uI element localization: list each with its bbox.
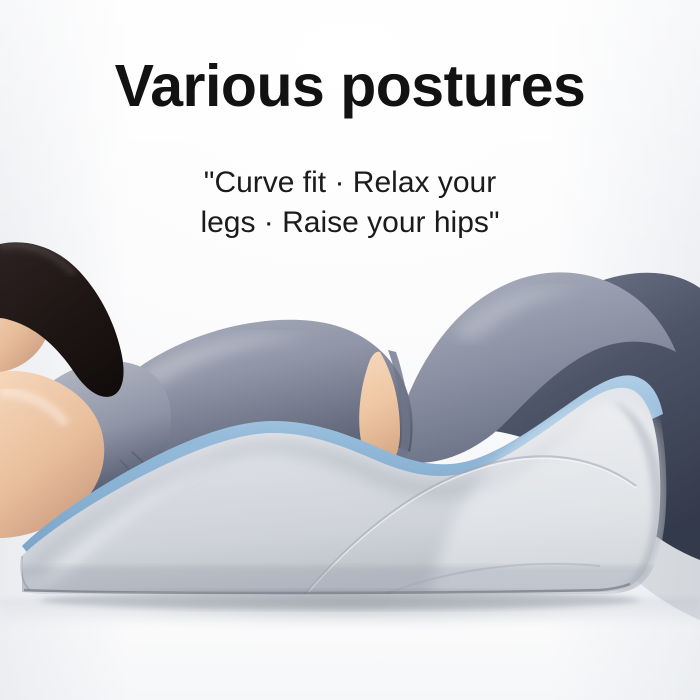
cushion-contact-shadow [40, 590, 640, 610]
page-title: Various postures [0, 56, 700, 116]
subtitle-line-2: legs · Raise your hips" [0, 203, 700, 243]
product-marketing-image: Various postures "Curve fit · Relax your… [0, 0, 700, 700]
subtitle-line-1: "Curve fit · Relax your [204, 166, 496, 199]
page-subtitle: "Curve fit · Relax your legs · Raise you… [0, 163, 700, 242]
